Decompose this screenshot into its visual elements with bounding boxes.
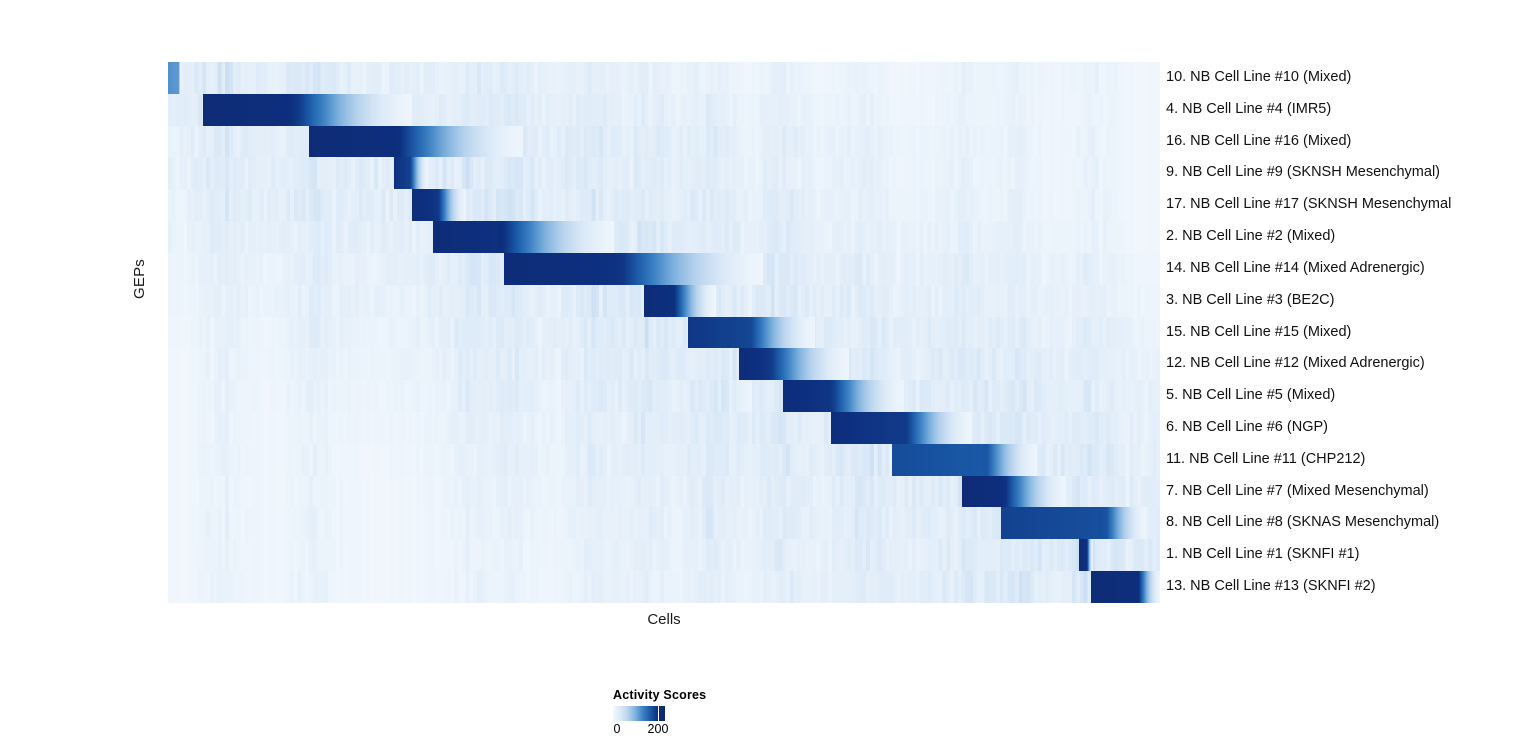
heatmap-activity-block[interactable] <box>1001 507 1146 539</box>
heatmap-row-background <box>168 62 1160 94</box>
heatmap-row-background <box>168 317 1160 349</box>
heatmap-figure: GEPs Cells 10. NB Cell Line #10 (Mixed)4… <box>0 0 1540 743</box>
heatmap-row[interactable] <box>168 253 1160 285</box>
row-label: 16. NB Cell Line #16 (Mixed) <box>1166 126 1540 158</box>
row-label: 14. NB Cell Line #14 (Mixed Adrenergic) <box>1166 253 1540 285</box>
heatmap-row[interactable] <box>168 285 1160 317</box>
heatmap-activity-block[interactable] <box>1091 571 1160 603</box>
heatmap-row[interactable] <box>168 348 1160 380</box>
heatmap-row[interactable] <box>168 189 1160 221</box>
heatmap-activity-block[interactable] <box>203 94 412 126</box>
heatmap-row-background <box>168 157 1160 189</box>
heatmap-activity-block[interactable] <box>831 412 972 444</box>
heatmap-row[interactable] <box>168 94 1160 126</box>
row-label: 17. NB Cell Line #17 (SKNSH Mesenchymal <box>1166 189 1540 221</box>
heatmap-activity-block[interactable] <box>433 221 615 253</box>
heatmap-row[interactable] <box>168 157 1160 189</box>
row-label: 2. NB Cell Line #2 (Mixed) <box>1166 221 1540 253</box>
heatmap-row[interactable] <box>168 126 1160 158</box>
x-axis-label: Cells <box>168 611 1160 628</box>
heatmap-row-background <box>168 189 1160 221</box>
row-label-list: 10. NB Cell Line #10 (Mixed)4. NB Cell L… <box>1166 62 1540 603</box>
heatmap-row[interactable] <box>168 62 1160 94</box>
colorbar-tick-label: 200 <box>648 722 669 736</box>
heatmap-activity-block[interactable] <box>739 348 848 380</box>
row-label: 3. NB Cell Line #3 (BE2C) <box>1166 285 1540 317</box>
heatmap-row[interactable] <box>168 412 1160 444</box>
heatmap-activity-block[interactable] <box>168 62 180 94</box>
row-label: 5. NB Cell Line #5 (Mixed) <box>1166 380 1540 412</box>
heatmap-row-background <box>168 380 1160 412</box>
row-label: 1. NB Cell Line #1 (SKNFI #1) <box>1166 539 1540 571</box>
heatmap-activity-block[interactable] <box>783 380 904 412</box>
heatmap-row[interactable] <box>168 476 1160 508</box>
colorbar-tick-label: 0 <box>614 722 621 736</box>
heatmap-row-background <box>168 348 1160 380</box>
heatmap-row[interactable] <box>168 507 1160 539</box>
heatmap-activity-block[interactable] <box>892 444 1037 476</box>
row-label: 7. NB Cell Line #7 (Mixed Mesenchymal) <box>1166 476 1540 508</box>
row-label: 6. NB Cell Line #6 (NGP) <box>1166 412 1540 444</box>
heatmap-plot-area[interactable] <box>168 62 1160 603</box>
heatmap-activity-block[interactable] <box>688 317 815 349</box>
heatmap-row-background <box>168 571 1160 603</box>
heatmap-activity-block[interactable] <box>962 476 1066 508</box>
heatmap-row[interactable] <box>168 380 1160 412</box>
colorbar-legend: Activity Scores 0200 <box>613 688 853 738</box>
heatmap-activity-block[interactable] <box>504 253 763 285</box>
colorbar-ticklabels: 0200 <box>613 722 693 738</box>
row-label: 4. NB Cell Line #4 (IMR5) <box>1166 94 1540 126</box>
heatmap-row[interactable] <box>168 571 1160 603</box>
colorbar-gradient-wrap <box>613 706 665 721</box>
legend-title: Activity Scores <box>613 688 853 702</box>
heatmap-activity-block[interactable] <box>412 189 466 221</box>
heatmap-row[interactable] <box>168 317 1160 349</box>
heatmap-activity-block[interactable] <box>309 126 523 158</box>
row-label: 15. NB Cell Line #15 (Mixed) <box>1166 317 1540 349</box>
heatmap-row-background <box>168 221 1160 253</box>
row-label: 11. NB Cell Line #11 (CHP212) <box>1166 444 1540 476</box>
heatmap-row[interactable] <box>168 221 1160 253</box>
heatmap-row-background <box>168 539 1160 571</box>
colorbar-tick <box>658 706 660 721</box>
y-axis-label: GEPs <box>131 259 148 299</box>
row-label: 9. NB Cell Line #9 (SKNSH Mesenchymal) <box>1166 157 1540 189</box>
heatmap-row-background <box>168 412 1160 444</box>
heatmap-row[interactable] <box>168 444 1160 476</box>
row-label: 8. NB Cell Line #8 (SKNAS Mesenchymal) <box>1166 507 1540 539</box>
row-label: 12. NB Cell Line #12 (Mixed Adrenergic) <box>1166 348 1540 380</box>
row-label: 10. NB Cell Line #10 (Mixed) <box>1166 62 1540 94</box>
heatmap-row[interactable] <box>168 539 1160 571</box>
row-label: 13. NB Cell Line #13 (SKNFI #2) <box>1166 571 1540 603</box>
heatmap-activity-block[interactable] <box>1079 539 1093 571</box>
heatmap-activity-block[interactable] <box>644 285 715 317</box>
heatmap-activity-block[interactable] <box>394 157 428 189</box>
